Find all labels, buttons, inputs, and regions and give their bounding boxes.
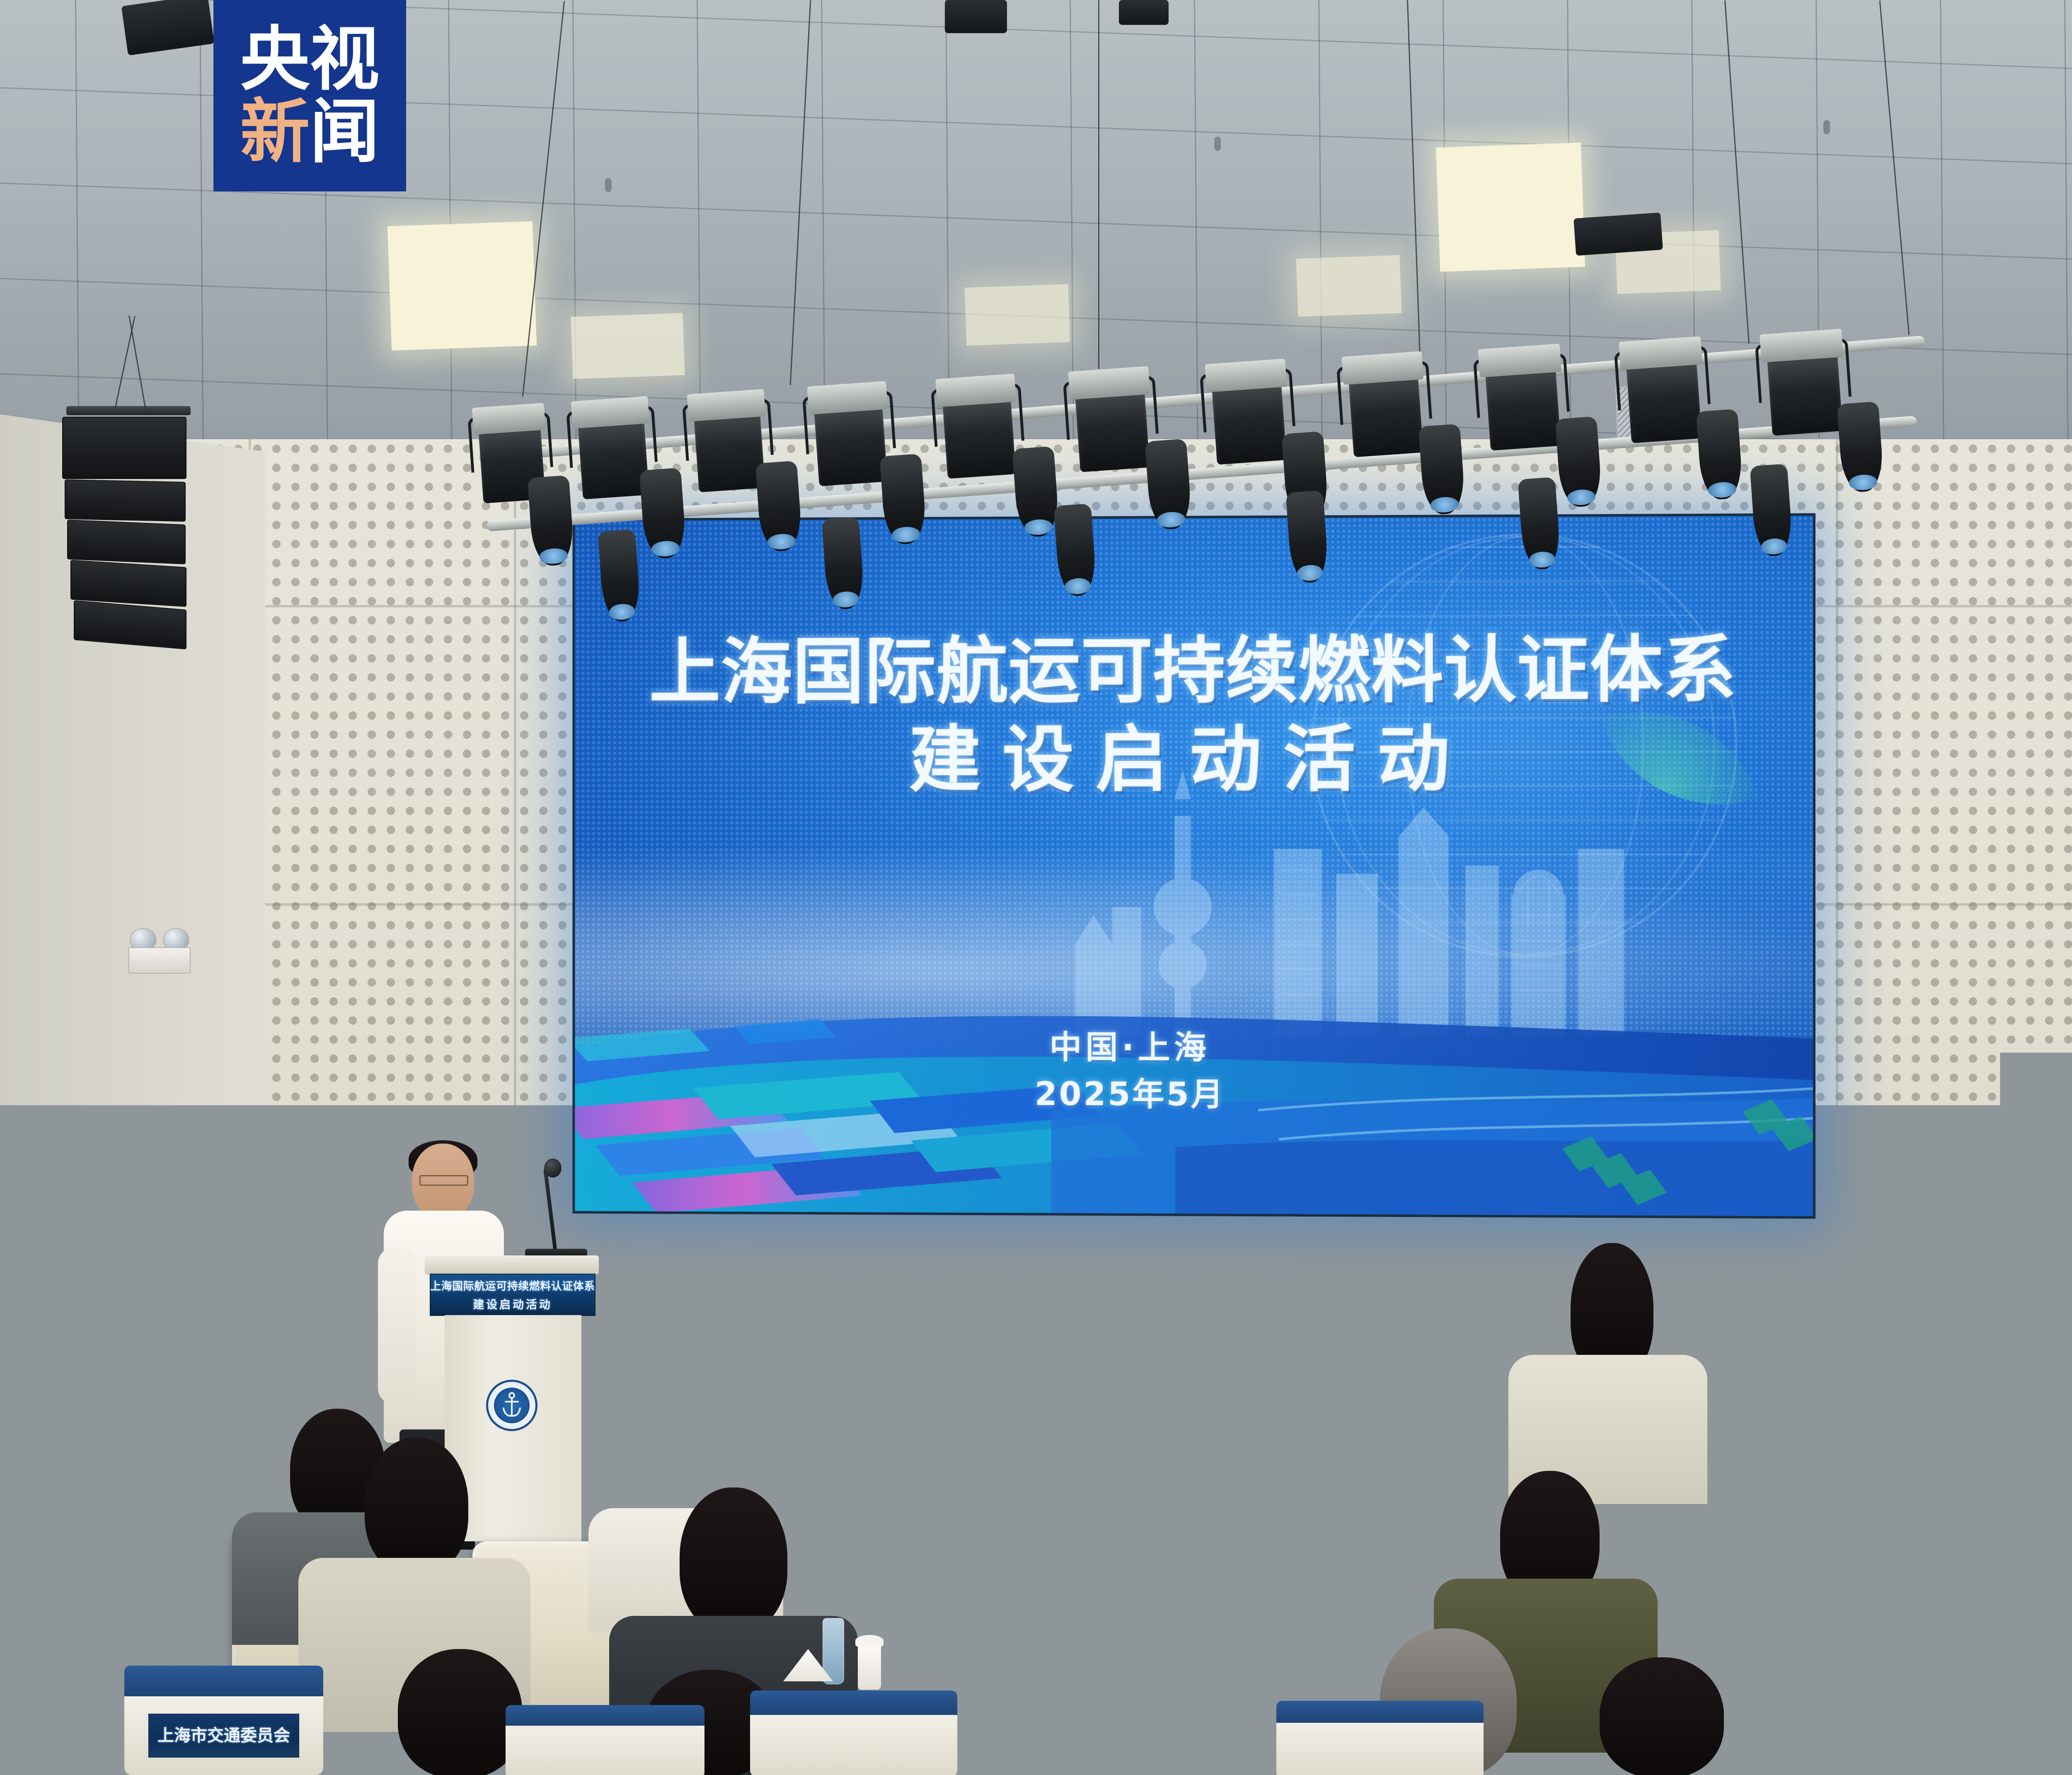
exit-arrow-icon: → [1271, 1354, 1290, 1373]
anchor-icon [500, 1392, 524, 1419]
nameplate-line: 冯 玥 [989, 1702, 1066, 1731]
truss-wire [1098, 0, 1099, 369]
screen-footer-date: 2025年5月 [1035, 1072, 1225, 1117]
microphone-capsule [544, 1158, 562, 1178]
chair[interactable] [506, 1705, 704, 1775]
profile-spot-light [1285, 490, 1329, 584]
ceiling-bracket [1573, 213, 1663, 256]
chair[interactable] [750, 1690, 957, 1775]
audience-shoulders [1206, 1508, 1421, 1686]
lectern-banner-line2: 建设启动活动 [473, 1296, 552, 1312]
chair-back-panel [506, 1726, 704, 1775]
stage-light-fresnel [1626, 355, 1702, 443]
chair-with-nameplate[interactable]: 上海市交通委员会 [124, 1666, 323, 1775]
moving-head-light [1418, 424, 1466, 515]
profile-spot-light [1053, 503, 1097, 597]
moving-head-light [1837, 401, 1885, 493]
moving-head-light [528, 475, 575, 567]
sprinkler-head [1823, 120, 1830, 134]
audience-shoulders [1007, 1492, 1222, 1666]
logo-char-xin: 新 [240, 91, 310, 172]
speaker-hang-bar [66, 406, 191, 415]
emergency-light-left [128, 928, 191, 974]
presenter-arm [378, 1247, 416, 1405]
chair-back-panel [1906, 1718, 2072, 1775]
stage-light-fresnel [1211, 377, 1287, 464]
nameplate-line: 水运科学研究所(院) [1803, 1695, 1918, 1712]
led-video-wall: 上海国际航运可持续燃料认证体系 建设启动活动 中国·上海 2025年5月 [572, 513, 1815, 1219]
screenshot-root: 上海国际航运可持续燃料认证体系 建设启动活动 中国·上海 2025年5月 [0, 0, 2072, 1775]
audience-head [365, 1438, 468, 1574]
nameplate-line: 交通运输部 [1825, 1678, 1896, 1695]
moving-head-light [755, 461, 803, 552]
chair-cushion [750, 1690, 957, 1717]
cctv-news-logo: 央视 新闻 [213, 0, 406, 191]
stage-light-fresnel [693, 407, 765, 493]
chair-cushion [1753, 1618, 1968, 1654]
logo-char-wen: 闻 [310, 91, 380, 172]
audience-head [680, 1487, 787, 1632]
profile-spot-light [1518, 477, 1561, 571]
stage-light-fresnel [1075, 385, 1150, 472]
chair-back-panel [1276, 1723, 1484, 1775]
logo-line-xinwen: 新闻 [240, 96, 380, 168]
stage-light-fresnel [942, 392, 1016, 479]
projector-mount [1119, 0, 1169, 25]
exit-sign-left: → [140, 1376, 195, 1403]
screen-footer: 中国·上海 2025年5月 [1035, 1023, 1225, 1117]
lectern-top [425, 1255, 599, 1274]
presenter-glasses [419, 1175, 468, 1186]
nameplate-person: 冯 玥 [946, 1694, 1109, 1741]
exit-running-man-icon [149, 1380, 167, 1398]
screen-title-line1: 上海国际航运可持续燃料认证体系 [575, 628, 1813, 714]
speaker-cabinet [70, 560, 186, 607]
chair-cushion [124, 1666, 323, 1698]
stage-lighting-truss [477, 298, 1927, 555]
logo-line-yangshi: 央视 [240, 23, 380, 96]
ceiling-camera [945, 0, 1007, 33]
moving-head-light [880, 454, 927, 545]
chair-cushion [1906, 1695, 2072, 1719]
audience-head [1600, 1657, 1724, 1775]
sprinkler-head [1214, 137, 1221, 151]
sprinkler-head [605, 178, 612, 192]
chair-cushion [1276, 1701, 1484, 1724]
stage-light-fresnel [813, 399, 887, 486]
emergency-light-body [128, 947, 191, 974]
nameplate-organisation: 上海市交通委员会 [148, 1714, 300, 1758]
exit-arrow-icon: → [169, 1381, 186, 1398]
profile-spot-light [598, 529, 641, 623]
moving-head-light [639, 468, 687, 559]
running-man-glyph [1252, 1356, 1266, 1371]
maritime-anchor-emblem-icon [486, 1380, 537, 1431]
moving-head-light [1696, 409, 1744, 501]
nameplate-line: 上海市交通委员会 [157, 1725, 290, 1746]
exit-sign-center: → [1239, 1349, 1300, 1378]
moving-head-light [1012, 446, 1060, 538]
chair-back-panel [750, 1715, 957, 1775]
speaker-cabinet [67, 520, 186, 564]
lectern-banner-line1: 上海国际航运可持续燃料认证体系 [430, 1278, 595, 1293]
chair-back-panel: 上海市交通委员会 [124, 1696, 323, 1775]
stage-light-fresnel [1767, 347, 1843, 435]
line-array-speaker-left [62, 406, 199, 646]
ceiling-light-panel [1436, 143, 1585, 272]
stage-light-fresnel [577, 414, 649, 500]
stage-light-fresnel [1485, 362, 1561, 450]
profile-spot-light [821, 517, 865, 610]
moving-head-light [1145, 439, 1193, 530]
tea-cup[interactable] [858, 1644, 881, 1690]
audience-head [1807, 1392, 1902, 1516]
chair-cushion [920, 1643, 1135, 1678]
cup-lid [855, 1635, 884, 1647]
stage-light-fresnel [1348, 370, 1423, 457]
speaker-cabinet [65, 479, 186, 522]
speaker-cabinet [62, 417, 186, 479]
exit-running-man-icon [1249, 1354, 1269, 1374]
chair[interactable] [1276, 1701, 1484, 1775]
audience-head [398, 1649, 522, 1775]
screen-title-line2: 建设启动活动 [575, 712, 1813, 807]
profile-spot-light [1750, 464, 1793, 557]
chair[interactable] [1906, 1695, 2072, 1775]
wall-seam [1836, 439, 1838, 1475]
speaker-cabinet [74, 600, 186, 650]
screen-title: 上海国际航运可持续燃料认证体系 建设启动活动 [575, 628, 1813, 807]
running-man-glyph [152, 1382, 164, 1396]
screen-footer-location: 中国·上海 [1035, 1023, 1225, 1072]
lectern-banner: 上海国际航运可持续燃料认证体系 建设启动活动 [430, 1274, 595, 1316]
chair-cushion [506, 1705, 704, 1727]
moving-head-light [1555, 416, 1603, 508]
